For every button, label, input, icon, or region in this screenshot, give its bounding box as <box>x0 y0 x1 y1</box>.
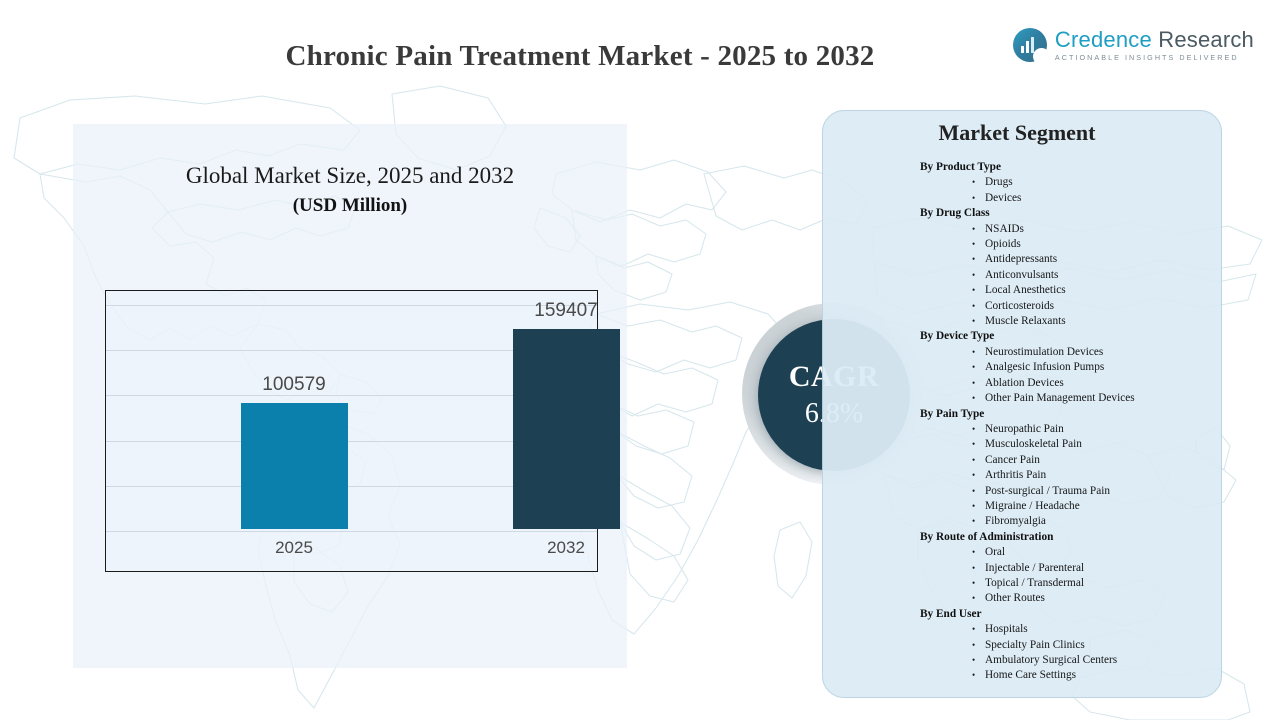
bar-chart-circle-icon <box>1013 28 1047 62</box>
market-segment-list: By Product TypeDrugsDevicesBy Drug Class… <box>920 160 1220 684</box>
segment-list-item: Arthritis Pain <box>920 468 1220 483</box>
segment-list-item: Muscle Relaxants <box>920 314 1220 329</box>
segment-list-item: Local Anesthetics <box>920 283 1220 298</box>
brand-name: Credence Research <box>1055 29 1254 51</box>
segment-list-item: Migraine / Headache <box>920 499 1220 514</box>
bar-value-label: 159407 <box>534 300 597 322</box>
bar-2025: 1005792025 <box>241 403 348 529</box>
segment-list-item: Fibromyalgia <box>920 514 1220 529</box>
bar-chart-plot: 10057920251594072032 <box>105 290 598 572</box>
brand-name-secondary: Research <box>1152 27 1254 52</box>
chart-title: Global Market Size, 2025 and 2032 <box>73 163 627 189</box>
segment-list-item: Post-surgical / Trauma Pain <box>920 484 1220 499</box>
segment-list-item: Musculoskeletal Pain <box>920 437 1220 452</box>
segment-list-item: Cancer Pain <box>920 453 1220 468</box>
segment-list-item: Anticonvulsants <box>920 268 1220 283</box>
segment-list-item: Other Routes <box>920 591 1220 606</box>
bar-2032: 1594072032 <box>513 329 620 529</box>
segment-list-item: Ambulatory Surgical Centers <box>920 653 1220 668</box>
bar-category-label: 2032 <box>547 538 585 558</box>
segment-list-item: Injectable / Parenteral <box>920 561 1220 576</box>
chart-subtitle: (USD Million) <box>73 195 627 217</box>
segment-group-label: By Route of Administration <box>920 530 1220 545</box>
brand-name-primary: Credence <box>1055 27 1152 52</box>
segment-list-item: Devices <box>920 191 1220 206</box>
segment-list-item: Specialty Pain Clinics <box>920 638 1220 653</box>
brand-tagline: Actionable Insights Delivered <box>1055 54 1254 61</box>
infographic-canvas: Chronic Pain Treatment Market - 2025 to … <box>0 0 1280 720</box>
segment-group-label: By Drug Class <box>920 206 1220 221</box>
segment-list-item: Opioids <box>920 237 1220 252</box>
segment-list-item: Other Pain Management Devices <box>920 391 1220 406</box>
segment-group-label: By Pain Type <box>920 407 1220 422</box>
segment-list-item: Corticosteroids <box>920 299 1220 314</box>
segment-list-item: Home Care Settings <box>920 668 1220 683</box>
bar-value-label: 100579 <box>262 374 325 396</box>
segment-group-label: By Device Type <box>920 329 1220 344</box>
bar-category-label: 2025 <box>275 538 313 558</box>
segment-list-item: Neuropathic Pain <box>920 422 1220 437</box>
segment-list-item: Drugs <box>920 175 1220 190</box>
segment-group-label: By End User <box>920 607 1220 622</box>
segment-list-item: Neurostimulation Devices <box>920 345 1220 360</box>
segment-list-item: Ablation Devices <box>920 376 1220 391</box>
segment-list-item: Hospitals <box>920 622 1220 637</box>
market-segment-title: Market Segment <box>822 120 1212 146</box>
segment-list-item: NSAIDs <box>920 222 1220 237</box>
segment-list-item: Antidepressants <box>920 252 1220 267</box>
segment-list-item: Topical / Transdermal <box>920 576 1220 591</box>
page-title: Chronic Pain Treatment Market - 2025 to … <box>0 40 1160 73</box>
chart-bars: 10057920251594072032 <box>106 291 597 571</box>
segment-group-label: By Product Type <box>920 160 1220 175</box>
segment-list-item: Analgesic Infusion Pumps <box>920 360 1220 375</box>
brand-logo: Credence Research Actionable Insights De… <box>1013 28 1254 62</box>
segment-list-item: Oral <box>920 545 1220 560</box>
